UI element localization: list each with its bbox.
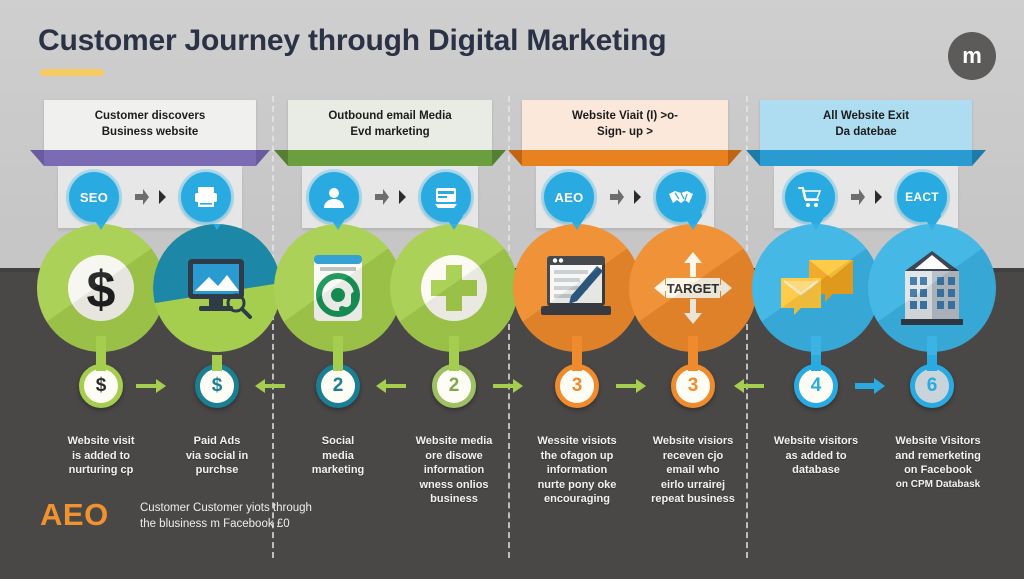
pin-marker-up <box>445 210 463 230</box>
footer-brand: AEO <box>40 497 109 533</box>
printer-icon[interactable] <box>181 172 231 222</box>
caption-4-line-4: wness onlios <box>395 478 513 493</box>
caption-5-line-1: Wessite visiots <box>518 434 636 449</box>
seo-badge-label: SEO <box>80 190 108 205</box>
caption-1-line-2: is added to <box>42 449 160 464</box>
big-circle-target[interactable]: TARGET <box>629 224 757 352</box>
stem-down <box>212 336 222 352</box>
caption-4-line-3: information <box>395 463 513 478</box>
badge-5[interactable]: 3 <box>555 364 599 408</box>
badge-1[interactable]: $ <box>79 364 123 408</box>
caption-4-line-2: ore disowe <box>395 449 513 464</box>
panel-4-header: All Website Exit Da datebae <box>760 100 972 150</box>
pin-marker-up <box>92 210 110 230</box>
caption-3-line-2: media <box>279 449 397 464</box>
split-arrow-icon <box>133 184 167 210</box>
caption-6-line-4: eirlo urrairej <box>634 478 752 493</box>
brand-logo-letter: m <box>962 45 982 67</box>
svg-text:TARGET: TARGET <box>667 281 720 296</box>
split-arrow-icon <box>608 184 642 210</box>
caption-6-line-2: receven cjo <box>634 449 752 464</box>
flow-arrow-2 <box>255 378 285 394</box>
panel-3-ribbon <box>522 150 728 166</box>
caption-8-line-3: on Facebook <box>873 463 1003 478</box>
pin-marker-up <box>807 210 825 230</box>
caption-7-line-1: Website visitors <box>757 434 875 449</box>
flow-arrow-4 <box>493 378 523 394</box>
badge-3-label: 2 <box>333 375 344 397</box>
panel-2-title-line2: Evd marketing <box>294 125 486 141</box>
brand-logo: m <box>948 32 996 80</box>
big-circle-signup-form[interactable] <box>513 224 641 352</box>
panel-2-title-line1: Outbound email Media <box>294 109 486 125</box>
badge-1-label: $ <box>96 375 107 397</box>
caption-4-line-1: Website media <box>395 434 513 449</box>
big-circle-monitor[interactable] <box>153 224 281 352</box>
caption-2-line-3: purchse <box>158 463 276 478</box>
split-arrow-icon <box>849 184 883 210</box>
pin-marker-up <box>329 210 347 230</box>
plus-cross-icon <box>417 251 491 325</box>
panel-1-title-line2: Business website <box>50 125 250 141</box>
caption-3: Social media marketing <box>279 434 397 478</box>
badge-stem <box>96 355 106 371</box>
panel-2-header: Outbound email Media Evd marketing <box>288 100 492 150</box>
flow-arrow-3 <box>376 378 406 394</box>
svg-text:$: $ <box>87 261 116 319</box>
badge-5-label: 3 <box>572 375 583 397</box>
badge-stem <box>572 355 582 371</box>
panel-1-ribbon <box>44 150 256 166</box>
caption-1-line-3: nurturing cp <box>42 463 160 478</box>
dollar-coin-icon: $ <box>64 251 138 325</box>
footer-subtitle-line-2: the blusiness m Facebook £0 <box>140 516 370 532</box>
badge-stem <box>927 355 937 371</box>
badge-stem <box>449 355 459 371</box>
footer-subtitle-line-1: Customer Customer yiots through <box>140 500 370 516</box>
pin-marker-up <box>923 210 941 230</box>
badge-stem <box>688 355 698 371</box>
eact-badge-label: EACT <box>905 190 939 204</box>
flow-arrow-7 <box>855 378 885 394</box>
caption-4: Website media ore disowe information wne… <box>395 434 513 507</box>
badge-7-label: 4 <box>811 375 822 397</box>
monitor-search-icon <box>178 255 256 321</box>
badge-6-label: 3 <box>688 375 699 397</box>
badge-3[interactable]: 2 <box>316 364 360 408</box>
caption-8-line-4: on CPM Databask <box>873 478 1003 491</box>
building-icon <box>895 249 969 327</box>
badge-stem <box>811 355 821 371</box>
caption-7-line-2: as added to <box>757 449 875 464</box>
caption-2-line-1: Paid Ads <box>158 434 276 449</box>
caption-8: Website Visitors and remerketing on Face… <box>873 434 1003 491</box>
panel-2[interactable]: Outbound email Media Evd marketing <box>288 100 492 228</box>
caption-6-line-1: Website visiors <box>634 434 752 449</box>
big-circle-building[interactable] <box>868 224 996 352</box>
panel-1-header: Customer discovers Business website <box>44 100 256 150</box>
panel-3-header: Website Viait (I) >o- Sign- up > <box>522 100 728 150</box>
panel-4-ribbon <box>760 150 972 166</box>
footer-subtitle: Customer Customer yiots through the blus… <box>140 500 370 532</box>
panel-1-title-line1: Customer discovers <box>50 109 250 125</box>
badge-8[interactable]: 6 <box>910 364 954 408</box>
caption-3-line-3: marketing <box>279 463 397 478</box>
infographic-canvas: Customer Journey through Digital Marketi… <box>0 0 1024 579</box>
caption-7-line-3: database <box>757 463 875 478</box>
caption-5-line-2: the ofagon up <box>518 449 636 464</box>
caption-7: Website visitors as added to database <box>757 434 875 478</box>
caption-4-line-5: business <box>395 492 513 507</box>
panel-1[interactable]: Customer discovers Business website SEO <box>44 100 256 228</box>
caption-3-line-1: Social <box>279 434 397 449</box>
badge-2-label: $ <box>212 375 223 397</box>
big-circle-dollar[interactable]: $ <box>37 224 165 352</box>
badge-stem <box>333 355 343 371</box>
flow-arrow-6 <box>734 378 764 394</box>
big-circle-plus[interactable] <box>390 224 518 352</box>
aeo-badge-label: AEO <box>554 190 583 205</box>
badge-4[interactable]: 2 <box>432 364 476 408</box>
caption-6: Website visiors receven cjo email who ei… <box>634 434 752 507</box>
badge-6[interactable]: 3 <box>671 364 715 408</box>
split-arrow-icon <box>373 184 407 210</box>
panel-4[interactable]: All Website Exit Da datebae <box>760 100 972 228</box>
flow-arrow-5 <box>616 378 646 394</box>
pin-marker-up <box>208 224 226 230</box>
caption-1-line-1: Website visit <box>42 434 160 449</box>
email-at-icon <box>310 251 366 325</box>
title-underline-rule <box>40 69 104 76</box>
panel-3-title-line1: Website Viait (I) >o- <box>528 109 722 125</box>
envelopes-icon <box>775 256 857 320</box>
page-title: Customer Journey through Digital Marketi… <box>38 24 666 58</box>
pin-marker-up <box>684 210 702 230</box>
flow-arrow-1 <box>136 378 166 394</box>
target-sign-icon: TARGET <box>652 250 734 326</box>
badge-7[interactable]: 4 <box>794 364 838 408</box>
caption-6-line-5: repeat business <box>634 492 752 507</box>
caption-8-line-1: Website Visitors <box>873 434 1003 449</box>
panel-4-title-line2: Da datebae <box>766 125 966 141</box>
big-circle-envelopes[interactable] <box>752 224 880 352</box>
caption-5: Wessite visiots the ofagon up informatio… <box>518 434 636 507</box>
caption-2: Paid Ads via social in purchse <box>158 434 276 478</box>
caption-5-line-4: nurte pony oke <box>518 478 636 493</box>
panel-3-title-line2: Sign- up > <box>528 125 722 141</box>
signup-form-icon <box>535 252 619 324</box>
caption-8-line-2: and remerketing <box>873 449 1003 464</box>
panel-4-title-line1: All Website Exit <box>766 109 966 125</box>
caption-5-line-5: encouraging <box>518 492 636 507</box>
caption-2-line-2: via social in <box>158 449 276 464</box>
panel-1-icon-strip: SEO <box>58 166 242 228</box>
panel-2-ribbon <box>288 150 492 166</box>
panel-3[interactable]: Website Viait (I) >o- Sign- up > AEO <box>522 100 728 228</box>
badge-4-label: 2 <box>449 375 460 397</box>
badge-2[interactable]: $ <box>195 364 239 408</box>
badge-stem <box>212 355 222 371</box>
caption-1: Website visit is added to nurturing cp <box>42 434 160 478</box>
caption-5-line-3: information <box>518 463 636 478</box>
big-circle-email[interactable] <box>274 224 402 352</box>
caption-6-line-3: email who <box>634 463 752 478</box>
badge-8-label: 6 <box>927 375 938 397</box>
pin-marker-up <box>568 210 586 230</box>
